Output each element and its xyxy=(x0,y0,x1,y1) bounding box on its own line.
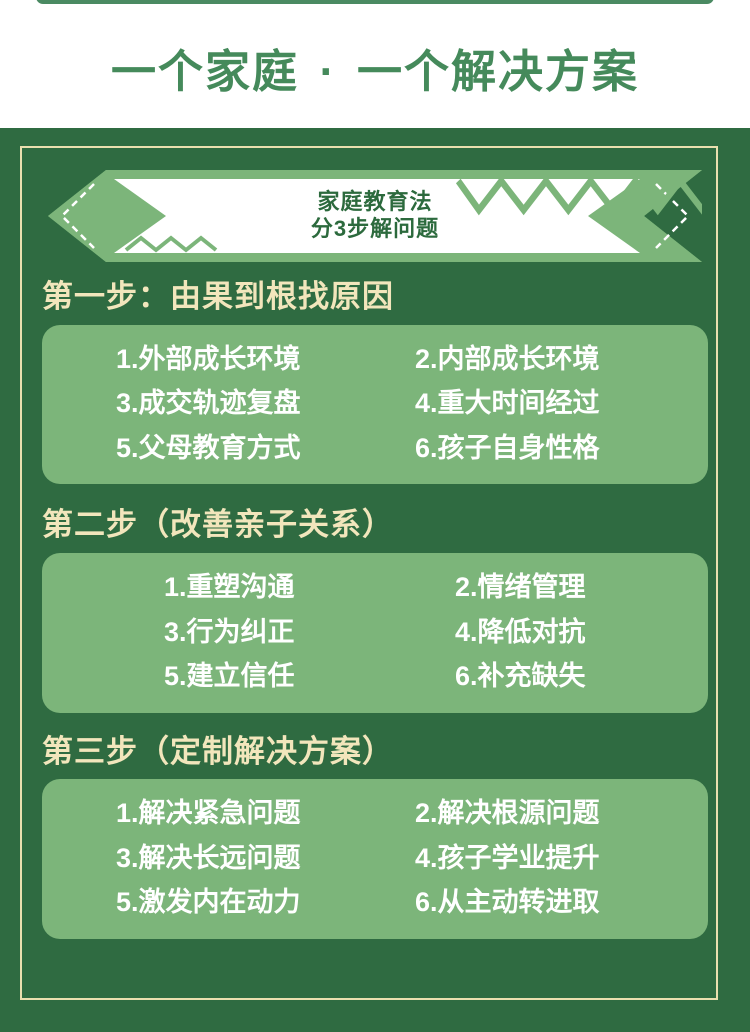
step-2-items: 1.重塑沟通 2.情绪管理 3.行为纠正 4.降低对抗 5.建立信任 6.补充缺… xyxy=(42,567,708,697)
list-item: 2.解决根源问题 xyxy=(375,793,708,834)
list-item: 5.建立信任 xyxy=(42,656,375,697)
list-item: 2.内部成长环境 xyxy=(375,339,708,380)
green-panel: 家庭教育法 分3步解问题 第一步：由果到根找原因 1.外部成长环境 2.内部成长… xyxy=(0,128,750,1032)
list-item: 2.情绪管理 xyxy=(375,567,708,608)
page-title: 一个家庭 · 一个解决方案 xyxy=(111,49,639,94)
step-1-box: 1.外部成长环境 2.内部成长环境 3.成交轨迹复盘 4.重大时间经过 5.父母… xyxy=(42,325,708,485)
step-3-heading: 第三步（定制解决方案） xyxy=(42,733,750,772)
list-item: 6.补充缺失 xyxy=(375,656,708,697)
list-item: 4.降低对抗 xyxy=(375,612,708,653)
page-title-part1: 一个家庭 xyxy=(111,46,299,97)
steps-container: 第一步：由果到根找原因 1.外部成长环境 2.内部成长环境 3.成交轨迹复盘 4… xyxy=(0,278,750,939)
step-1-items: 1.外部成长环境 2.内部成长环境 3.成交轨迹复盘 4.重大时间经过 5.父母… xyxy=(42,339,708,469)
step-1-heading: 第一步：由果到根找原因 xyxy=(42,278,750,317)
list-item: 1.解决紧急问题 xyxy=(42,793,375,834)
step-3-items: 1.解决紧急问题 2.解决根源问题 3.解决长远问题 4.孩子学业提升 5.激发… xyxy=(42,793,708,923)
list-item: 3.成交轨迹复盘 xyxy=(42,383,375,424)
list-item: 6.孩子自身性格 xyxy=(375,428,708,469)
list-item: 1.外部成长环境 xyxy=(42,339,375,380)
list-item: 5.激发内在动力 xyxy=(42,882,375,923)
list-item: 4.重大时间经过 xyxy=(375,383,708,424)
banner-ribbon: 家庭教育法 分3步解问题 xyxy=(48,170,702,262)
step-2-box: 1.重塑沟通 2.情绪管理 3.行为纠正 4.降低对抗 5.建立信任 6.补充缺… xyxy=(42,553,708,713)
page-title-area: 一个家庭 · 一个解决方案 xyxy=(0,14,750,128)
list-item: 3.解决长远问题 xyxy=(42,838,375,879)
list-item: 6.从主动转进取 xyxy=(375,882,708,923)
list-item: 5.父母教育方式 xyxy=(42,428,375,469)
infographic-page: 一个家庭 · 一个解决方案 xyxy=(0,0,750,1032)
top-green-bar-remnant xyxy=(36,0,714,4)
list-item: 3.行为纠正 xyxy=(42,612,375,653)
step-1: 第一步：由果到根找原因 1.外部成长环境 2.内部成长环境 3.成交轨迹复盘 4… xyxy=(0,278,750,484)
step-2: 第二步（改善亲子关系） 1.重塑沟通 2.情绪管理 3.行为纠正 4.降低对抗 … xyxy=(0,506,750,712)
ribbon-shape-svg xyxy=(48,170,702,262)
list-item: 1.重塑沟通 xyxy=(42,567,375,608)
page-title-part2: 一个解决方案 xyxy=(357,46,639,97)
page-title-separator: · xyxy=(314,46,343,97)
ribbon-white-field xyxy=(114,179,640,253)
list-item: 4.孩子学业提升 xyxy=(375,838,708,879)
step-2-heading: 第二步（改善亲子关系） xyxy=(42,506,750,545)
step-3: 第三步（定制解决方案） 1.解决紧急问题 2.解决根源问题 3.解决长远问题 4… xyxy=(0,733,750,939)
step-3-box: 1.解决紧急问题 2.解决根源问题 3.解决长远问题 4.孩子学业提升 5.激发… xyxy=(42,779,708,939)
